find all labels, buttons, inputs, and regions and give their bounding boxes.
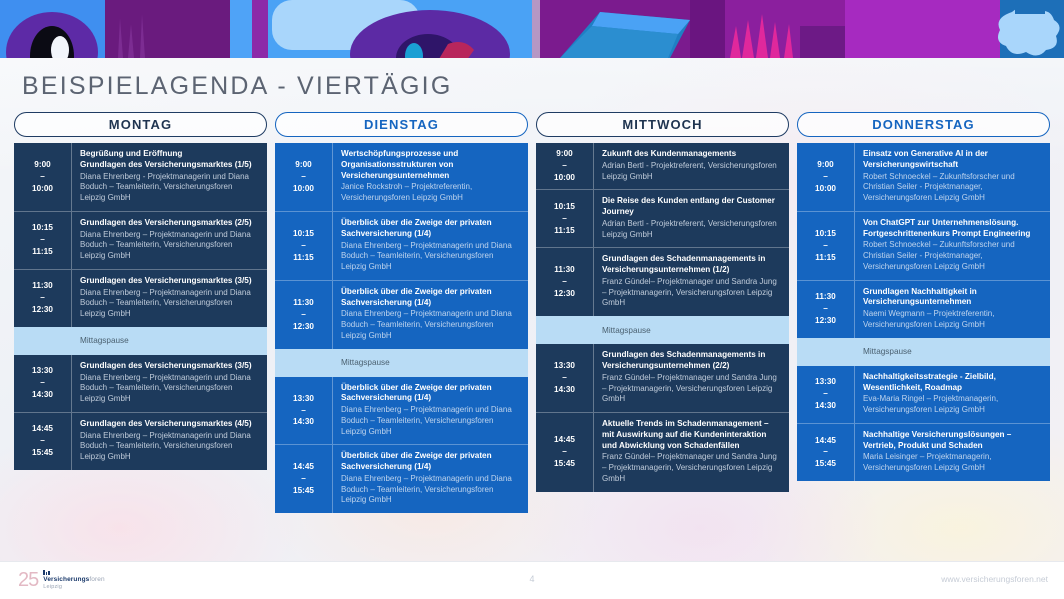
day-tab-donnerstag[interactable]: DONNERSTAG xyxy=(797,112,1050,137)
slot-time-start: 11:30 xyxy=(32,280,53,292)
slot-time-end: 12:30 xyxy=(815,315,836,327)
day-column-mittwoch: MITTWOCH9:00–10:00Zukunft des Kundenmana… xyxy=(536,112,789,552)
slot-speaker: Adrian Bertl - Projektreferent, Versiche… xyxy=(602,161,781,182)
slot-time-end: 14:30 xyxy=(32,389,53,401)
slot-time-start: 9:00 xyxy=(295,159,311,171)
banner-graphic xyxy=(0,0,1064,58)
agenda-slot[interactable]: 13:30–14:30Grundlagen des Schadenmanagem… xyxy=(536,344,789,412)
slot-time-dash: – xyxy=(301,171,306,183)
slot-time: 9:00–10:00 xyxy=(275,143,333,211)
agenda-columns: MONTAG9:00–10:00Begrüßung und Eröffnung … xyxy=(14,112,1050,552)
lunch-break: Mittagspause xyxy=(536,316,789,344)
slot-time: 13:30–14:30 xyxy=(797,366,855,423)
agenda-slot[interactable]: 10:15–11:15Grundlagen des Versicherungsm… xyxy=(14,211,267,269)
slot-body: Überblick über die Zweige der privaten S… xyxy=(333,445,528,513)
slot-time-dash: – xyxy=(823,446,828,458)
slot-speaker: Diana Ehrenberg – Projektmanagerin und D… xyxy=(80,373,259,405)
slot-time-start: 10:15 xyxy=(815,228,836,240)
slot-title: Von ChatGPT zur Unternehmenslösung. Fort… xyxy=(863,218,1042,240)
slot-body: Überblick über die Zweige der privaten S… xyxy=(333,377,528,445)
day-schedule: 9:00–10:00Wertschöpfungsprozesse und Org… xyxy=(275,143,528,513)
slot-time: 13:30–14:30 xyxy=(536,344,594,412)
agenda-slot[interactable]: 9:00–10:00Wertschöpfungsprozesse und Org… xyxy=(275,143,528,211)
agenda-slot[interactable]: 11:30–12:30Grundlagen Nachhaltigkeit in … xyxy=(797,280,1050,338)
decorative-banner xyxy=(0,0,1064,58)
slot-time: 10:15–11:15 xyxy=(275,212,333,280)
slot-speaker: Robert Schnoeckel – Zukunftsforscher und… xyxy=(863,240,1042,272)
slot-speaker: Diana Ehrenberg – Projektmanagerin und D… xyxy=(341,309,520,341)
slot-body: Nachhaltige Versicherungslösungen – Vert… xyxy=(855,424,1050,481)
day-column-dienstag: DIENSTAG9:00–10:00Wertschöpfungsprozesse… xyxy=(275,112,528,552)
slot-body: Grundlagen des Schadenmanagements in Ver… xyxy=(594,248,789,316)
agenda-slot[interactable]: 9:00–10:00Einsatz von Generative AI in d… xyxy=(797,143,1050,211)
slot-time: 9:00–10:00 xyxy=(14,143,72,211)
slot-time-dash: – xyxy=(562,213,567,225)
agenda-slot[interactable]: 14:45–15:45Nachhaltige Versicherungslösu… xyxy=(797,423,1050,481)
slot-title: Einsatz von Generative AI in der Versich… xyxy=(863,149,1042,171)
slot-speaker: Maria Leisinger – Projektmanagerin, Vers… xyxy=(863,452,1042,473)
slot-body: Von ChatGPT zur Unternehmenslösung. Fort… xyxy=(855,212,1050,280)
slot-time-end: 10:00 xyxy=(815,183,836,195)
slot-body: Grundlagen des Versicherungsmarktes (4/5… xyxy=(72,413,267,470)
slide-root: BEISPIELAGENDA - VIERTÄGIG MONTAG9:00–10… xyxy=(0,0,1064,599)
slot-time: 11:30–12:30 xyxy=(536,248,594,316)
agenda-slot[interactable]: 11:30–12:30Grundlagen des Versicherungsm… xyxy=(14,269,267,327)
lunch-label: Mittagspause xyxy=(333,358,390,367)
slot-speaker: Adrian Bertl - Projektreferent, Versiche… xyxy=(602,219,781,240)
slot-body: Wertschöpfungsprozesse und Organisations… xyxy=(333,143,528,211)
slot-time-end: 14:30 xyxy=(293,416,314,428)
slot-time-dash: – xyxy=(823,303,828,315)
slot-title: Grundlagen des Schadenmanagements in Ver… xyxy=(602,254,781,276)
logo-city: Leipzig xyxy=(43,584,104,590)
slot-title: Grundlagen des Schadenmanagements in Ver… xyxy=(602,350,781,372)
slot-body: Begrüßung und Eröffnung Grundlagen des V… xyxy=(72,143,267,211)
slot-time: 11:30–12:30 xyxy=(797,281,855,338)
agenda-slot[interactable]: 11:30–12:30Überblick über die Zweige der… xyxy=(275,280,528,349)
page-title: BEISPIELAGENDA - VIERTÄGIG xyxy=(22,72,452,101)
slot-time: 14:45–15:45 xyxy=(536,413,594,492)
slot-body: Zukunft des KundenmanagementsAdrian Bert… xyxy=(594,143,789,189)
slot-title: Grundlagen des Versicherungsmarktes (2/5… xyxy=(80,218,259,229)
day-tab-dienstag[interactable]: DIENSTAG xyxy=(275,112,528,137)
slot-time-dash: – xyxy=(301,405,306,417)
agenda-slot[interactable]: 9:00–10:00Begrüßung und Eröffnung Grundl… xyxy=(14,143,267,211)
slot-time-end: 10:00 xyxy=(293,183,314,195)
slide-footer: 25 Versicherungsforen Leipzig 4 www.vers… xyxy=(0,561,1064,599)
slot-title: Die Reise des Kunden entlang der Custome… xyxy=(602,196,781,218)
slot-speaker: Diana Ehrenberg – Projektmanagerin und D… xyxy=(341,241,520,273)
slot-speaker: Diana Ehrenberg – Projektmanagerin und D… xyxy=(341,405,520,437)
slot-time: 13:30–14:30 xyxy=(275,377,333,445)
slot-title: Grundlagen des Versicherungsmarktes (3/5… xyxy=(80,276,259,287)
slot-time: 14:45–15:45 xyxy=(14,413,72,470)
lunch-label: Mittagspause xyxy=(855,347,912,356)
slot-time-start: 14:45 xyxy=(293,461,314,473)
slot-time-dash: – xyxy=(40,435,45,447)
slot-time-start: 10:15 xyxy=(293,228,314,240)
slot-body: Einsatz von Generative AI in der Versich… xyxy=(855,143,1050,211)
slot-body: Grundlagen des Versicherungsmarktes (2/5… xyxy=(72,212,267,269)
day-schedule: 9:00–10:00Zukunft des KundenmanagementsA… xyxy=(536,143,789,492)
slot-time-end: 15:45 xyxy=(815,458,836,470)
slot-title: Zukunft des Kundenmanagements xyxy=(602,149,781,160)
slot-title: Überblick über die Zweige der privaten S… xyxy=(341,218,520,240)
slot-body: Grundlagen des Versicherungsmarktes (3/5… xyxy=(72,355,267,412)
slot-time-end: 11:15 xyxy=(32,246,53,258)
day-column-montag: MONTAG9:00–10:00Begrüßung und Eröffnung … xyxy=(14,112,267,552)
agenda-slot[interactable]: 10:15–11:15Die Reise des Kunden entlang … xyxy=(536,189,789,247)
lunch-break: Mittagspause xyxy=(275,349,528,377)
slot-time-dash: – xyxy=(823,171,828,183)
slot-time: 14:45–15:45 xyxy=(275,445,333,513)
slot-speaker: Diana Ehrenberg – Projektmanagerin und D… xyxy=(80,288,259,320)
slot-time: 11:30–12:30 xyxy=(14,270,72,327)
slot-time-dash: – xyxy=(562,372,567,384)
slot-time-dash: – xyxy=(301,473,306,485)
slot-body: Grundlagen des Versicherungsmarktes (3/5… xyxy=(72,270,267,327)
slot-time-dash: – xyxy=(40,292,45,304)
slot-title: Wertschöpfungsprozesse und Organisations… xyxy=(341,149,520,181)
slot-body: Die Reise des Kunden entlang der Custome… xyxy=(594,190,789,247)
day-schedule: 9:00–10:00Begrüßung und Eröffnung Grundl… xyxy=(14,143,267,470)
lunch-break: Mittagspause xyxy=(797,338,1050,366)
agenda-slot[interactable]: 13:30–14:30Grundlagen des Versicherungsm… xyxy=(14,355,267,412)
slot-speaker: Naemi Wegmann – Projektreferentin, Versi… xyxy=(863,309,1042,330)
slot-time-start: 14:45 xyxy=(554,434,575,446)
slot-time-end: 10:00 xyxy=(32,183,53,195)
day-schedule: 9:00–10:00Einsatz von Generative AI in d… xyxy=(797,143,1050,481)
agenda-slot[interactable]: 10:15–11:15Von ChatGPT zur Unternehmensl… xyxy=(797,211,1050,280)
slot-speaker: Diana Ehrenberg – Projektmanagerin und D… xyxy=(80,431,259,463)
slot-time-dash: – xyxy=(40,171,45,183)
lunch-break: Mittagspause xyxy=(14,327,267,355)
slot-speaker: Janice Rockstroh – Projektreferentin, Ve… xyxy=(341,182,520,203)
slot-time-dash: – xyxy=(562,276,567,288)
slot-time-dash: – xyxy=(823,388,828,400)
day-tab-montag[interactable]: MONTAG xyxy=(14,112,267,137)
slot-title: Aktuelle Trends im Schadenmanagement – m… xyxy=(602,419,781,451)
slot-body: Grundlagen Nachhaltigkeit in Versicherun… xyxy=(855,281,1050,338)
slot-speaker: Robert Schnoeckel – Zukunftsforscher und… xyxy=(863,172,1042,204)
slot-speaker: Diana Ehrenberg – Projektmanagerin und D… xyxy=(80,230,259,262)
slot-speaker: Diana Ehrenberg – Projektmanagerin und D… xyxy=(341,474,520,506)
slot-time-end: 12:30 xyxy=(554,288,575,300)
slot-time-start: 13:30 xyxy=(32,365,53,377)
slot-speaker: Franz Gündel– Projektmanager und Sandra … xyxy=(602,277,781,309)
agenda-slot[interactable]: 13:30–14:30Nachhaltigkeitsstrategie - Zi… xyxy=(797,366,1050,423)
slot-time-end: 12:30 xyxy=(293,321,314,333)
slot-time-end: 15:45 xyxy=(554,458,575,470)
slot-time-end: 11:15 xyxy=(554,225,575,237)
agenda-slot[interactable]: 11:30–12:30Grundlagen des Schadenmanagem… xyxy=(536,247,789,316)
agenda-slot[interactable]: 14:45–15:45Aktuelle Trends im Schadenman… xyxy=(536,412,789,492)
slot-title: Grundlagen Nachhaltigkeit in Versicherun… xyxy=(863,287,1042,309)
slot-time-end: 14:30 xyxy=(554,384,575,396)
slot-title: Überblick über die Zweige der privaten S… xyxy=(341,451,520,473)
slot-title: Grundlagen des Versicherungsmarktes (3/5… xyxy=(80,361,259,372)
slot-time: 10:15–11:15 xyxy=(797,212,855,280)
slot-title: Nachhaltige Versicherungslösungen – Vert… xyxy=(863,430,1042,452)
slot-time-start: 9:00 xyxy=(817,159,833,171)
slot-time-dash: – xyxy=(40,234,45,246)
slot-time-end: 11:15 xyxy=(815,252,836,264)
slot-body: Grundlagen des Schadenmanagements in Ver… xyxy=(594,344,789,412)
lunch-label: Mittagspause xyxy=(594,326,651,335)
slot-title: Überblick über die Zweige der privaten S… xyxy=(341,287,520,309)
slot-time: 9:00–10:00 xyxy=(536,143,594,189)
agenda-slot[interactable]: 13:30–14:30Überblick über die Zweige der… xyxy=(275,377,528,445)
slot-time: 9:00–10:00 xyxy=(797,143,855,211)
slot-time-start: 9:00 xyxy=(556,148,572,160)
slot-time-start: 14:45 xyxy=(32,423,53,435)
slot-time-start: 13:30 xyxy=(815,376,836,388)
slot-body: Nachhaltigkeitsstrategie - Zielbild, Wes… xyxy=(855,366,1050,423)
agenda-slot[interactable]: 9:00–10:00Zukunft des KundenmanagementsA… xyxy=(536,143,789,189)
slot-time-start: 10:15 xyxy=(554,201,575,213)
slot-time-dash: – xyxy=(562,446,567,458)
slot-time-start: 9:00 xyxy=(34,159,50,171)
slot-time-end: 12:30 xyxy=(32,304,53,316)
slot-time-end: 15:45 xyxy=(32,447,53,459)
slot-time-dash: – xyxy=(40,377,45,389)
slot-time-dash: – xyxy=(823,240,828,252)
slot-time-dash: – xyxy=(301,240,306,252)
slot-time-start: 11:30 xyxy=(815,291,836,303)
slot-time: 13:30–14:30 xyxy=(14,355,72,412)
slot-time: 11:30–12:30 xyxy=(275,281,333,349)
slot-speaker: Diana Ehrenberg - Projektmanagerin und D… xyxy=(80,172,259,204)
day-column-donnerstag: DONNERSTAG9:00–10:00Einsatz von Generati… xyxy=(797,112,1050,552)
day-tab-mittwoch[interactable]: MITTWOCH xyxy=(536,112,789,137)
slot-time-start: 13:30 xyxy=(554,360,575,372)
agenda-slot[interactable]: 10:15–11:15Überblick über die Zweige der… xyxy=(275,211,528,280)
slot-time-end: 15:45 xyxy=(293,485,314,497)
agenda-slot[interactable]: 14:45–15:45Grundlagen des Versicherungsm… xyxy=(14,412,267,470)
slot-body: Aktuelle Trends im Schadenmanagement – m… xyxy=(594,413,789,492)
slot-time-start: 11:30 xyxy=(293,297,314,309)
slot-body: Überblick über die Zweige der privaten S… xyxy=(333,281,528,349)
slot-time-start: 14:45 xyxy=(815,435,836,447)
slot-time-start: 13:30 xyxy=(293,393,314,405)
slot-time-start: 10:15 xyxy=(32,222,53,234)
slot-time: 10:15–11:15 xyxy=(536,190,594,247)
slot-title: Nachhaltigkeitsstrategie - Zielbild, Wes… xyxy=(863,372,1042,394)
website-url: www.versicherungsforen.net xyxy=(941,574,1048,584)
slot-time: 14:45–15:45 xyxy=(797,424,855,481)
slot-time-end: 10:00 xyxy=(554,172,575,184)
slot-speaker: Eva-Maria Ringel – Projektmanagerin, Ver… xyxy=(863,394,1042,415)
slot-title: Grundlagen des Versicherungsmarktes (4/5… xyxy=(80,419,259,430)
slot-title: Begrüßung und Eröffnung Grundlagen des V… xyxy=(80,149,259,171)
lunch-label: Mittagspause xyxy=(72,336,129,345)
slot-time-end: 14:30 xyxy=(815,400,836,412)
slot-time-dash: – xyxy=(562,160,567,172)
slot-speaker: Franz Gündel– Projektmanager und Sandra … xyxy=(602,452,781,484)
slot-body: Überblick über die Zweige der privaten S… xyxy=(333,212,528,280)
slot-title: Überblick über die Zweige der privaten S… xyxy=(341,383,520,405)
slot-time-dash: – xyxy=(301,309,306,321)
agenda-slot[interactable]: 14:45–15:45Überblick über die Zweige der… xyxy=(275,444,528,513)
slot-time-end: 11:15 xyxy=(293,252,314,264)
slot-time: 10:15–11:15 xyxy=(14,212,72,269)
slot-time-start: 11:30 xyxy=(554,264,575,276)
page-number: 4 xyxy=(0,574,1064,584)
slot-speaker: Franz Gündel– Projektmanager und Sandra … xyxy=(602,373,781,405)
